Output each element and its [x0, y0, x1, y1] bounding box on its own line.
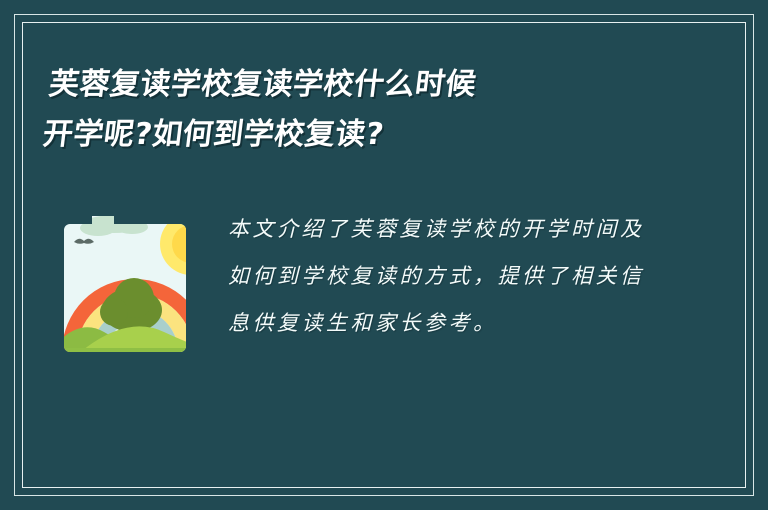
illustration-svg: [58, 202, 212, 362]
page-title: 芙蓉复读学校复读学校什么时候 开学呢?如何到学校复读?: [40, 60, 712, 160]
summary-text: 本文介绍了芙蓉复读学校的开学时间及如何到学校复读的方式，提供了相关信息供复读生和…: [228, 206, 658, 347]
sky-panel: [58, 202, 212, 362]
article-cover-card: 芙蓉复读学校复读学校什么时候 开学呢?如何到学校复读?: [0, 0, 768, 510]
rainbow-landscape-illustration: [58, 202, 212, 362]
cloud: [80, 215, 148, 236]
ground: [58, 348, 212, 356]
summary-block: 本文介绍了芙蓉复读学校的开学时间及如何到学校复读的方式，提供了相关信息供复读生和…: [228, 206, 658, 347]
